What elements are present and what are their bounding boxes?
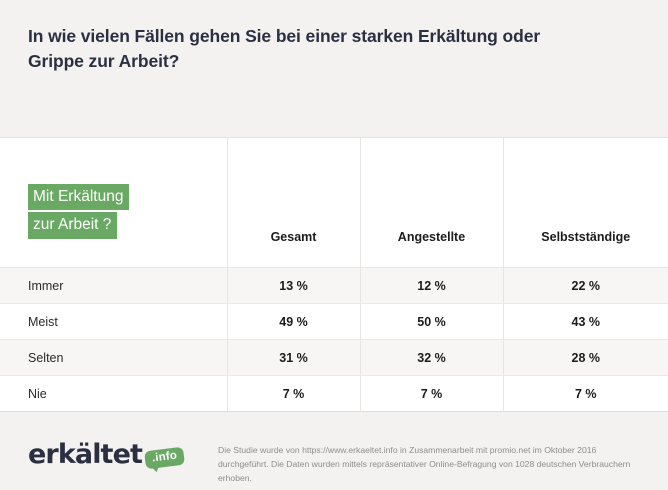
page-title: In wie vielen Fällen gehen Sie bei einer… — [28, 24, 588, 74]
table-header-row: Mit Erkältung zur Arbeit ? Gesamt Angest… — [0, 138, 668, 268]
cell-meist-angestellte: 50 % — [360, 304, 503, 340]
table-body: Immer 13 % 12 % 22 % Meist 49 % 50 % 43 … — [0, 268, 668, 412]
cell-nie-selbststaendige: 7 % — [503, 376, 668, 412]
cell-immer-angestellte: 12 % — [360, 268, 503, 304]
column-header-gesamt: Gesamt — [227, 138, 360, 268]
column-header-selbststaendige: Selbstständige — [503, 138, 668, 268]
table-head: Mit Erkältung zur Arbeit ? Gesamt Angest… — [0, 138, 668, 268]
cell-nie-gesamt: 7 % — [227, 376, 360, 412]
table-row: Nie 7 % 7 % 7 % — [0, 376, 668, 412]
speech-bubble-icon: .info — [144, 446, 185, 468]
logo-wordmark: erkältet — [28, 441, 142, 468]
results-table-card: Mit Erkältung zur Arbeit ? Gesamt Angest… — [0, 137, 668, 412]
infographic-page: In wie vielen Fällen gehen Sie bei einer… — [0, 0, 668, 490]
row-label-meist: Meist — [0, 304, 227, 340]
results-table: Mit Erkältung zur Arbeit ? Gesamt Angest… — [0, 138, 668, 411]
row-label-immer: Immer — [0, 268, 227, 304]
cell-immer-gesamt: 13 % — [227, 268, 360, 304]
table-row: Meist 49 % 50 % 43 % — [0, 304, 668, 340]
row-label-selten: Selten — [0, 340, 227, 376]
cell-selten-selbststaendige: 28 % — [503, 340, 668, 376]
cell-selten-angestellte: 32 % — [360, 340, 503, 376]
cell-immer-selbststaendige: 22 % — [503, 268, 668, 304]
table-row: Selten 31 % 32 % 28 % — [0, 340, 668, 376]
green-highlight-label: Mit Erkältung zur Arbeit ? — [28, 180, 129, 241]
title-block: In wie vielen Fällen gehen Sie bei einer… — [0, 0, 668, 74]
brand-logo: erkältet .info — [28, 432, 216, 468]
column-header-angestellte: Angestellte — [360, 138, 503, 268]
table-row: Immer 13 % 12 % 22 % — [0, 268, 668, 304]
footer: erkältet .info Die Studie wurde von http… — [0, 418, 668, 490]
green-label-line-2: zur Arbeit ? — [28, 212, 117, 239]
green-label-line-1: Mit Erkältung — [28, 184, 129, 211]
row-header-label-cell: Mit Erkältung zur Arbeit ? — [0, 138, 227, 268]
cell-selten-gesamt: 31 % — [227, 340, 360, 376]
row-label-nie: Nie — [0, 376, 227, 412]
cell-meist-selbststaendige: 43 % — [503, 304, 668, 340]
footnote-text: Die Studie wurde von https://www.erkaelt… — [216, 432, 646, 486]
cell-meist-gesamt: 49 % — [227, 304, 360, 340]
cell-nie-angestellte: 7 % — [360, 376, 503, 412]
